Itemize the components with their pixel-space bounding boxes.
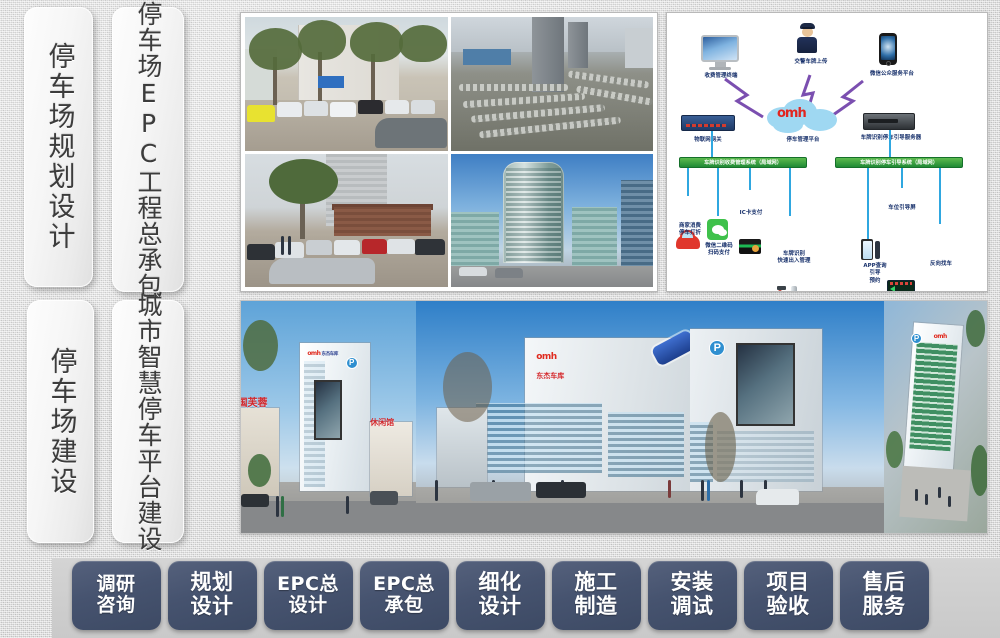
parking-guidance-screen-label: 车位引导屏 (877, 205, 927, 212)
process-step-line1: 细化 (479, 571, 522, 595)
brand-logo-render-0: omh东杰车库 (307, 350, 338, 357)
photo-office-tower (451, 154, 654, 288)
connector-gate (789, 168, 791, 216)
business-card-label: 停车场EPC工程总承包 (135, 1, 161, 299)
sign-leisure: 休闲馆 (370, 417, 394, 428)
process-step-bar: 调研 咨询 规划 设计 EPC总 设计 EPC总 承包 细化 设计 施工 制造 … (0, 552, 1000, 638)
parking-system-architecture-diagram: 收费管理终端 交警车牌上传 微信公众服务平台 物联网网关 车牌识别停车引导服务器… (666, 12, 988, 292)
process-step-detailed-design[interactable]: 细化 设计 (456, 561, 545, 630)
wechat-public-service-platform-label: 微信公众服务平台 (851, 71, 933, 78)
plate-recognition-guidance-server-label: 车牌识别停车引导服务器 (845, 135, 937, 142)
reverse-car-finding-label: 反向找车 (917, 261, 965, 268)
process-step-epc-overall-design[interactable]: EPC总 设计 (264, 561, 353, 630)
photo-surface-parking-lot (245, 17, 448, 151)
connector-reverse-find (939, 168, 941, 224)
process-step-line1: 项目 (767, 571, 810, 595)
plate-recognition-fast-access-label: 车牌识别 快速出入管理 (763, 251, 825, 266)
process-step-planning-design[interactable]: 规划 设计 (168, 561, 257, 630)
iot-gateway-label: 物联网网关 (675, 137, 741, 144)
process-step-line1: 调研 (96, 574, 135, 595)
connector-wechat (717, 168, 719, 216)
photo-parking-lot-brick-building (245, 154, 448, 288)
process-step-line1: EPC总 (373, 574, 435, 595)
traffic-police-icon (797, 27, 817, 53)
fee-management-terminal-label: 收费管理终端 (683, 73, 759, 80)
process-step-line1: EPC总 (277, 574, 339, 595)
business-card-smart-city-parking-platform[interactable]: 城市智慧停车平台建设 (112, 300, 184, 543)
parking-symbol-render-0: P (346, 357, 358, 369)
project-photo-grid (240, 12, 658, 292)
photo-aerial-parking-lot (451, 17, 654, 151)
plate-recognition-guidance-server-icon (863, 113, 915, 130)
architectural-renderings-panel: omh东杰车库 P 国芙蓉 休闲馆 omh 东杰车库 (240, 300, 988, 534)
process-step-line2: 承包 (384, 595, 423, 616)
connector-app (867, 168, 869, 240)
cloud-platform-icon: omh (763, 99, 843, 133)
ic-card-payment-label: IC卡支付 (729, 210, 773, 217)
rendering-aerial-tower: P omh (884, 301, 987, 533)
process-step-line2: 设计 (288, 595, 327, 616)
process-step-line2: 设计 (191, 595, 234, 619)
connector-merchant (687, 168, 689, 196)
system-bar-parking-guidance: 车牌识别停车引导系统（局域网） (835, 157, 963, 168)
app-query-guidance-booking-label: APP查询 引导 预约 (849, 263, 901, 285)
parking-management-platform-label: 停车管理平台 (763, 137, 843, 144)
rendering-garage-facade: omh 东杰车库 (416, 301, 690, 533)
app-query-phone-icon (861, 239, 873, 260)
business-card-parking-planning-design[interactable]: 停车场规划设计 (24, 7, 93, 287)
process-step-line2: 咨询 (96, 595, 135, 616)
business-card-label: 停车场建设 (46, 347, 74, 497)
process-step-epc-general-contracting[interactable]: EPC总 承包 (360, 561, 449, 630)
brand-name-render-1: 东杰车库 (536, 371, 564, 381)
wechat-qr-icon (707, 219, 728, 240)
app-user-silhouette-icon (875, 241, 880, 259)
system-bar-fee-management: 车牌识别收费管理系统（局域网） (679, 157, 807, 168)
connector-guidance-screen (901, 168, 903, 188)
wechat-service-phone-icon (879, 33, 897, 65)
process-step-after-sales-service[interactable]: 售后 服务 (840, 561, 929, 630)
poster-stage: 停车场规划设计 停车场EPC工程总承包 停车场建设 城市智慧停车平台建设 (0, 0, 1000, 638)
iot-gateway-icon (681, 115, 735, 131)
connector-gateway (711, 131, 713, 157)
wechat-qr-payment-label: 微信二维码 扫码支付 (693, 243, 745, 258)
business-card-label: 城市智慧停车平台建设 (135, 292, 161, 552)
process-step-research-consulting[interactable]: 调研 咨询 (72, 561, 161, 630)
process-step-line1: 售后 (863, 571, 906, 595)
cloud-brand-logo: omh (777, 106, 806, 121)
brand-logo-render-3: omh (934, 333, 947, 340)
process-step-installation-commissioning[interactable]: 安装 调试 (648, 561, 737, 630)
process-step-line2: 调试 (671, 595, 714, 619)
sign-guofurong: 国芙蓉 (241, 394, 268, 409)
process-step-line2: 设计 (479, 595, 522, 619)
connector-server (889, 130, 891, 158)
process-step-line2: 制造 (575, 595, 618, 619)
process-step-line2: 验收 (767, 595, 810, 619)
rendering-led-billboard: P (690, 301, 884, 533)
business-card-parking-construction[interactable]: 停车场建设 (27, 300, 94, 543)
business-card-parking-epc-contracting[interactable]: 停车场EPC工程总承包 (112, 7, 184, 292)
process-step-line1: 安装 (671, 571, 714, 595)
process-step-project-acceptance[interactable]: 项目 验收 (744, 561, 833, 630)
rendering-tower-street-view: omh东杰车库 P 国芙蓉 休闲馆 (241, 301, 416, 533)
process-step-line2: 服务 (863, 595, 906, 619)
process-step-construction-manufacturing[interactable]: 施工 制造 (552, 561, 641, 630)
fee-management-terminal-icon (701, 35, 739, 70)
traffic-police-plate-upload-label: 交警车牌上传 (773, 59, 849, 66)
business-card-column: 停车场规划设计 停车场EPC工程总承包 停车场建设 城市智慧停车平台建设 (0, 0, 228, 548)
brand-logo-render-1: omh (536, 352, 556, 362)
process-step-line1: 施工 (575, 571, 618, 595)
process-step-line1: 规划 (191, 571, 234, 595)
connector-ic-card (749, 168, 751, 190)
business-card-label: 停车场规划设计 (44, 42, 72, 252)
plate-recognition-gate-icon (777, 280, 803, 292)
